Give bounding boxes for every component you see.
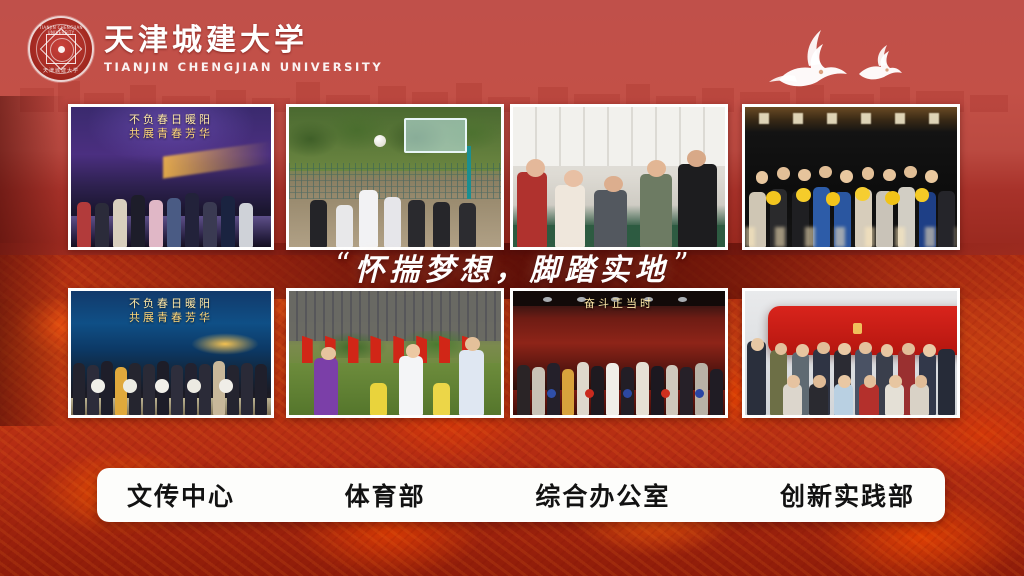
department-label-tiyu: 体育部 bbox=[345, 477, 426, 513]
photo-caption-line1: 奋斗正当时 bbox=[513, 295, 725, 311]
photo-caption-line2: 共展青春芳华 bbox=[71, 309, 271, 325]
university-name-en: TIANJIN CHENGJIAN UNIVERSITY bbox=[104, 60, 383, 74]
department-label-wenchuan: 文传中心 bbox=[127, 477, 235, 513]
university-name-cn: 天津城建大学 bbox=[104, 24, 383, 58]
photo-soccer-match[interactable] bbox=[286, 288, 504, 418]
department-label-zonghe: 综合办公室 bbox=[535, 477, 670, 513]
seal-text-bottom: 天津城建大学 bbox=[30, 67, 92, 74]
poster-canvas: TIANJIN CHENGJIAN UNIVERSITY 天津城建大学 天津城建… bbox=[0, 0, 1024, 576]
quote-close-mark: ” bbox=[674, 250, 689, 280]
dove-decoration-group bbox=[755, 12, 935, 98]
quote-open-mark: “ bbox=[335, 250, 350, 280]
photo-stage-ceremony[interactable]: 不负春日暖阳 共展青春芳华 bbox=[68, 104, 274, 250]
photo-caption-line2: 共展青春芳华 bbox=[71, 125, 271, 141]
slogan-quote: “ 怀揣梦想，脚踏实地 ” bbox=[0, 248, 1024, 294]
dove-icon bbox=[765, 26, 851, 92]
photo-group-stage-blue[interactable]: 不负春日暖阳 共展青春芳华 bbox=[68, 288, 274, 418]
university-seal-icon: TIANJIN CHENGJIAN UNIVERSITY 天津城建大学 bbox=[28, 16, 94, 82]
wordmark: 天津城建大学 TIANJIN CHENGJIAN UNIVERSITY bbox=[104, 24, 383, 74]
photo-sunflower-stage[interactable] bbox=[742, 104, 960, 250]
photo-red-stage-group[interactable]: 奋斗正当时 bbox=[510, 288, 728, 418]
photo-classroom-group[interactable] bbox=[510, 104, 728, 250]
quote-text: 怀揣梦想，脚踏实地 bbox=[355, 256, 670, 286]
brand-header: TIANJIN CHENGJIAN UNIVERSITY 天津城建大学 天津城建… bbox=[28, 16, 383, 82]
department-banner: 文传中心 体育部 综合办公室 创新实践部 bbox=[97, 468, 945, 522]
photo-indoor-group[interactable] bbox=[742, 288, 960, 418]
department-label-chuangxin: 创新实践部 bbox=[780, 477, 915, 513]
photo-basketball-game[interactable] bbox=[286, 104, 504, 250]
dove-icon bbox=[851, 44, 903, 84]
